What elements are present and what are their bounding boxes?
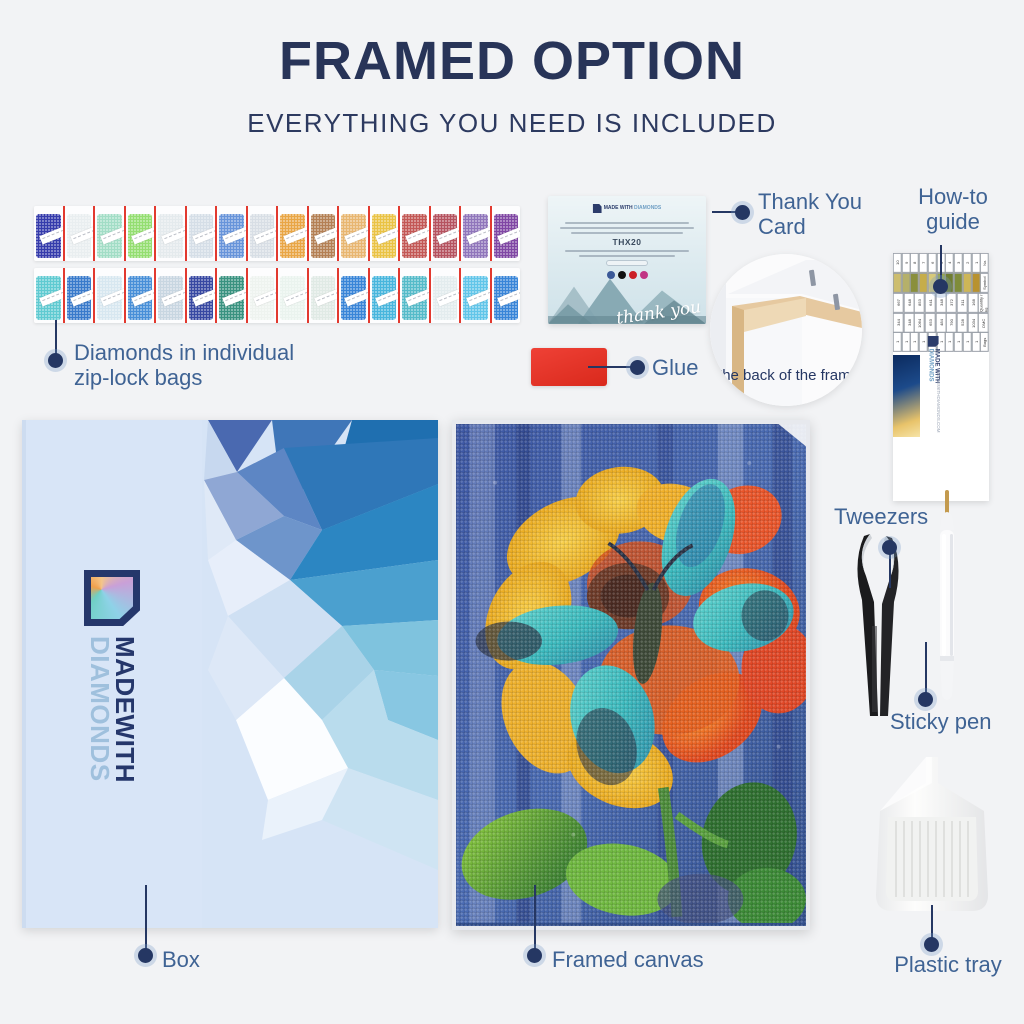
ziplock-bag: [34, 206, 65, 261]
canvas-artwork: [456, 424, 806, 923]
guide-chart-cell: 10: [893, 253, 902, 273]
guide-chart-cell: 168: [968, 293, 979, 313]
card-handle-pill: [606, 260, 648, 266]
ziplock-bag: [248, 268, 279, 323]
guide-chart-cell: 653: [925, 313, 936, 333]
guide-photo: [893, 355, 920, 437]
diamonds-callout-dot: [48, 353, 63, 368]
tweezers-leader-line: [889, 552, 891, 588]
card-footer-line-2: [579, 255, 675, 257]
how-to-callout-dot: [933, 279, 948, 294]
guide-chart-cell: 1: [963, 332, 972, 352]
glue-callout-dot: [630, 360, 645, 375]
ziplock-bag: [156, 268, 187, 323]
ziplock-bag: [126, 206, 157, 261]
plastic-tray-callout-dot: [924, 937, 939, 952]
guide-chart-cell: 667: [893, 293, 904, 313]
guide-chart-row-quantity: 667648853641348372311168Quantity / kg: [893, 293, 989, 313]
framed-canvas: [452, 420, 810, 930]
guide-chart-cell: 1: [893, 332, 902, 352]
facebook-icon: [607, 271, 615, 279]
guide-chart-cell: 311: [957, 293, 968, 313]
guide-logo-line2: DIAMONDS: [927, 348, 933, 381]
card-message: THX20: [554, 219, 700, 279]
ziplock-bag: [400, 206, 431, 261]
ziplock-bag: [461, 206, 492, 261]
guide-chart-swatch: [893, 273, 902, 293]
ziplock-bag: [65, 206, 96, 261]
guide-chart-row-dmc: 34434810646534847905281034DMC: [893, 313, 989, 333]
guide-chart-cell: 1: [954, 332, 963, 352]
guide-chart-cell: 1: [910, 332, 919, 352]
card-logo-text: MADE WITH DIAMONDS: [604, 206, 662, 211]
glue-leader-line: [588, 366, 636, 368]
ziplock-bag: [431, 206, 462, 261]
tweezers-tool: [850, 530, 906, 720]
thank-you-callout-dot: [735, 205, 750, 220]
card-message-line-2: [560, 227, 694, 229]
card-logo-line1: MADE WITH: [604, 205, 633, 211]
ziplock-bag: [339, 206, 370, 261]
guide-chart-cell: 344: [893, 313, 904, 333]
canvas-callout-dot: [527, 948, 542, 963]
box-logo-line1: MADEWITH: [112, 636, 137, 783]
guide-chart-cell: 1: [945, 332, 954, 352]
label-diamonds: Diamonds in individual zip-lock bags: [74, 341, 344, 390]
ziplock-bag: [34, 268, 65, 323]
label-framed-canvas: Framed canvas: [552, 948, 772, 973]
guide-chart-row-bags: 1111111111Bags: [893, 332, 989, 352]
guide-chart-header-quantity: Quantity / kg: [978, 293, 989, 313]
sticky-pen-leader-line: [925, 642, 927, 694]
guide-chart-swatch: [919, 273, 928, 293]
brand-mark-icon: [593, 204, 602, 213]
ziplock-bag: [217, 206, 248, 261]
tweezers-callout-dot: [882, 540, 897, 555]
canvas-surface: [456, 424, 806, 926]
label-how-to-guide: How-to guide: [893, 185, 1013, 234]
poster-stage: FRAMED OPTION EVERYTHING YOU NEED IS INC…: [0, 0, 1024, 1024]
ziplock-bag: [156, 206, 187, 261]
product-box: MADEWITH DIAMONDS: [22, 420, 438, 928]
guide-chart-cell: 6: [928, 253, 937, 273]
guide-chart-header-symbol: Symbol: [980, 273, 989, 293]
guide-chart-cell: 1034: [968, 313, 979, 333]
guide-chart-cell: 484: [936, 313, 947, 333]
card-social-icons: [554, 271, 700, 279]
card-footer-line-1: [565, 250, 689, 252]
tiktok-icon: [618, 271, 626, 279]
ziplock-bag: [187, 268, 218, 323]
guide-chart-swatch: [963, 273, 972, 293]
guide-chart-cell: 4: [945, 253, 954, 273]
plastic-tray-tool: [868, 755, 996, 925]
ziplock-bag: [278, 206, 309, 261]
card-logo-line2: DIAMONDS: [634, 205, 661, 211]
label-frame-back: The back of the frame: [710, 367, 862, 385]
ziplock-bag: [278, 268, 309, 323]
instagram-icon: [640, 271, 648, 279]
guide-chart-cell: 8: [910, 253, 919, 273]
box-callout-dot: [138, 948, 153, 963]
ziplock-bag: [126, 268, 157, 323]
ziplock-bag: [370, 206, 401, 261]
brand-mark-icon: [928, 336, 939, 347]
guide-chart-cell: 1064: [914, 313, 925, 333]
guide-chart-swatch: [954, 273, 963, 293]
ziplock-bag-row-bottom: [34, 268, 520, 323]
guide-chart-cell: 2: [963, 253, 972, 273]
guide-chart-cell: 372: [946, 293, 957, 313]
sticky-pen-tool: [930, 490, 964, 706]
box-brand-logo: MADEWITH DIAMONDS: [84, 570, 140, 783]
ziplock-bag: [339, 268, 370, 323]
guide-chart-header-dmc: DMC: [978, 313, 989, 333]
guide-chart-cell: 790: [946, 313, 957, 333]
ziplock-bag: [187, 206, 218, 261]
label-sticky-pen: Sticky pen: [890, 710, 1024, 735]
pinterest-icon: [629, 271, 637, 279]
guide-chart-cell: 641: [925, 293, 936, 313]
guide-meta-text: MADEWITHDIAMONDS.COM: [936, 372, 941, 433]
guide-chart-cell: 7: [919, 253, 928, 273]
plastic-tray-leader-line: [931, 905, 933, 941]
page-subtitle: EVERYTHING YOU NEED IS INCLUDED: [0, 108, 1024, 139]
box-logo-line2: DIAMONDS: [87, 636, 112, 783]
frame-back-bubble: The back of the frame: [710, 254, 862, 406]
ziplock-bag: [492, 268, 521, 323]
box-logo-text: MADEWITH DIAMONDS: [87, 636, 138, 783]
ziplock-bag: [95, 268, 126, 323]
card-brand-logo: MADE WITH DIAMONDS: [593, 204, 662, 213]
thank-you-card: MADE WITH DIAMONDS THX20 thank you: [548, 196, 706, 324]
box-leader-line: [145, 885, 147, 953]
card-promo-code: THX20: [554, 237, 700, 247]
ziplock-bag: [370, 268, 401, 323]
ziplock-bag: [95, 206, 126, 261]
guide-chart-header-bags: Bags: [980, 332, 989, 352]
page-title: FRAMED OPTION: [0, 34, 1024, 88]
ziplock-bag: [492, 206, 521, 261]
guide-chart-header-no: No.: [980, 253, 989, 273]
guide-chart-cell: 348: [904, 313, 915, 333]
canvas-leader-line: [534, 885, 536, 953]
card-message-line-1: [565, 222, 689, 224]
ziplock-bag: [309, 206, 340, 261]
ziplock-bag: [217, 268, 248, 323]
guide-chart-cell: 3: [954, 253, 963, 273]
brand-mark-icon: [84, 570, 140, 626]
guide-chart-cell: 853: [914, 293, 925, 313]
ziplock-bag: [431, 268, 462, 323]
label-thank-you-card: Thank You Card: [758, 190, 888, 239]
guide-chart-swatch: [910, 273, 919, 293]
ziplock-bag-row-top: [34, 206, 520, 261]
label-plastic-tray: Plastic tray: [868, 953, 1024, 978]
sticky-pen-callout-dot: [918, 692, 933, 707]
ziplock-bag: [309, 268, 340, 323]
ziplock-bag: [65, 268, 96, 323]
ziplock-bag: [461, 268, 492, 323]
card-message-line-3: [571, 232, 683, 234]
ziplock-bag: [248, 206, 279, 261]
guide-chart-cell: 348: [936, 293, 947, 313]
label-box: Box: [162, 948, 282, 973]
guide-chart-cell: 528: [957, 313, 968, 333]
ziplock-bag: [400, 268, 431, 323]
guide-chart-cell: 648: [904, 293, 915, 313]
